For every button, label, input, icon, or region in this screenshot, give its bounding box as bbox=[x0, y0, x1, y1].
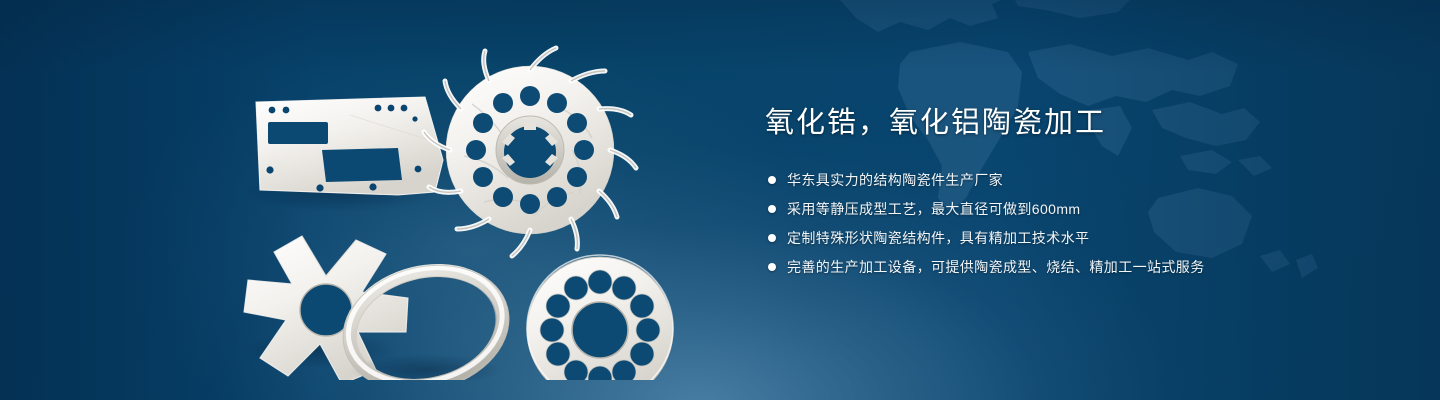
ceramic-mounting-plate bbox=[240, 97, 443, 212]
list-item: 完善的生产加工设备，可提供陶瓷成型、烧结、精加工一站式服务 bbox=[765, 256, 1405, 278]
bullet-dot-icon bbox=[768, 234, 776, 242]
list-item: 华东具实力的结构陶瓷件生产厂家 bbox=[765, 169, 1405, 191]
list-item-label: 定制特殊形状陶瓷结构件，具有精加工技术水平 bbox=[787, 228, 1089, 248]
product-photo-cluster bbox=[230, 40, 710, 380]
page-title: 氧化锆，氧化铝陶瓷加工 bbox=[765, 106, 1405, 141]
hero-banner: 氧化锆，氧化铝陶瓷加工 华东具实力的结构陶瓷件生产厂家 采用等静压成型工艺，最大… bbox=[0, 0, 1440, 400]
list-item-label: 华东具实力的结构陶瓷件生产厂家 bbox=[787, 170, 1003, 190]
list-item: 定制特殊形状陶瓷结构件，具有精加工技术水平 bbox=[765, 227, 1405, 249]
list-item-label: 完善的生产加工设备，可提供陶瓷成型、烧结、精加工一站式服务 bbox=[787, 257, 1205, 277]
list-item-label: 采用等静压成型工艺，最大直径可做到600mm bbox=[787, 199, 1080, 219]
ceramic-perforated-disc bbox=[526, 255, 674, 380]
bullet-dot-icon bbox=[768, 205, 776, 213]
list-item: 采用等静压成型工艺，最大直径可做到600mm bbox=[765, 198, 1405, 220]
bullet-dot-icon bbox=[768, 263, 776, 271]
banner-copy: 氧化锆，氧化铝陶瓷加工 华东具实力的结构陶瓷件生产厂家 采用等静压成型工艺，最大… bbox=[765, 106, 1405, 285]
bullet-dot-icon bbox=[768, 176, 776, 184]
feature-list: 华东具实力的结构陶瓷件生产厂家 采用等静压成型工艺，最大直径可做到600mm 定… bbox=[765, 169, 1405, 278]
ceramic-impeller bbox=[424, 48, 636, 256]
